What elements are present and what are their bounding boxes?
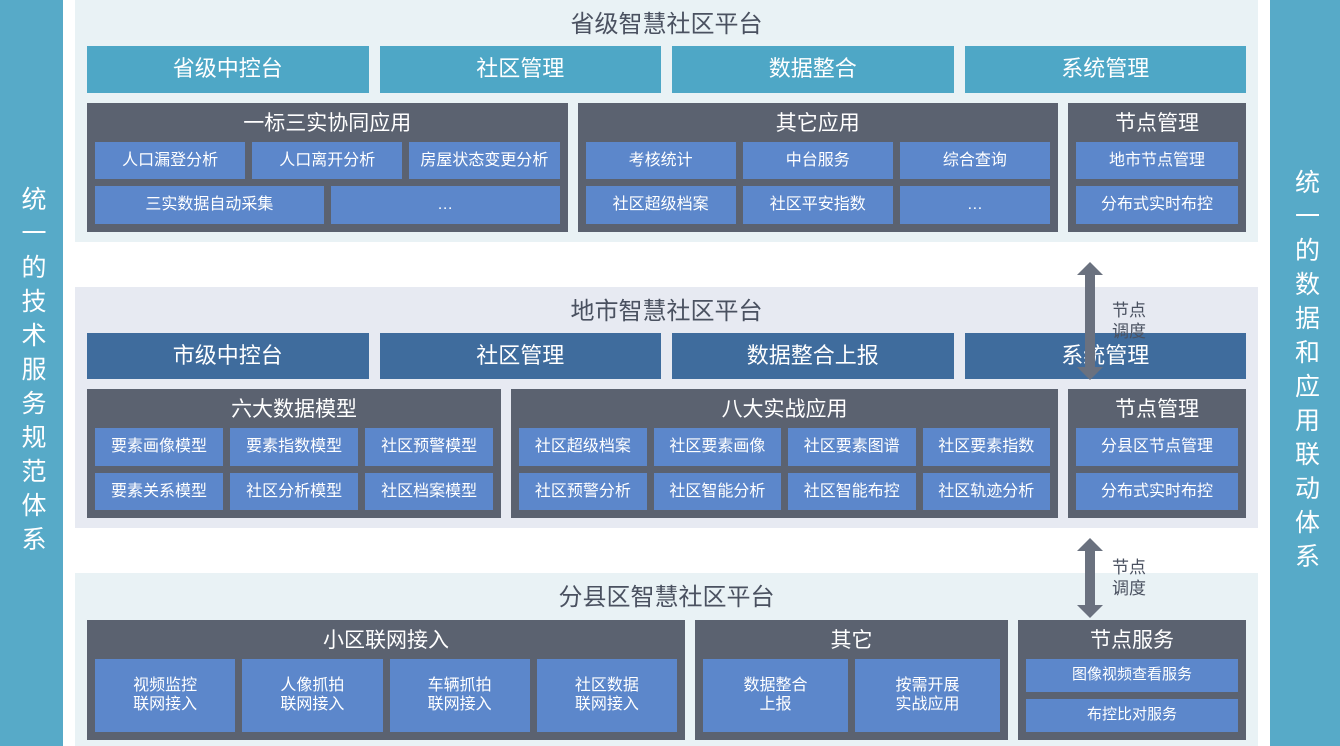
card-sanshi-auto-collect[interactable]: 三实数据自动采集 (95, 186, 324, 224)
arrow-shaft (1085, 275, 1095, 367)
group-cards: 人口漏登分析 人口离开分析 房屋状态变更分析 三实数据自动采集 … (95, 142, 560, 224)
municipal-title: 地市智慧社区平台 (87, 293, 1246, 333)
tab-provincial-system[interactable]: 系统管理 (965, 46, 1247, 92)
tab-municipal-control[interactable]: 市级中控台 (87, 333, 369, 379)
card-element-index-model[interactable]: 要素指数模型 (230, 428, 358, 466)
provincial-groups: 一标三实协同应用 人口漏登分析 人口离开分析 房屋状态变更分析 三实数据自动采集… (87, 103, 1246, 232)
card-midplatform-service[interactable]: 中台服务 (743, 142, 893, 180)
card-element-relation-model[interactable]: 要素关系模型 (95, 473, 223, 511)
group-cards: 视频监控 联网接入 人像抓拍 联网接入 车辆抓拍 联网接入 社区数据 联网接入 (95, 659, 677, 732)
card-integrated-query[interactable]: 综合查询 (900, 142, 1050, 180)
group-title: 节点管理 (1076, 395, 1238, 428)
group-cards: 分县区节点管理 分布式实时布控 (1076, 428, 1238, 510)
card-community-data-access[interactable]: 社区数据 联网接入 (537, 659, 677, 732)
provincial-tabs: 省级中控台 社区管理 数据整合 系统管理 (87, 46, 1246, 92)
group-yibiaosansi: 一标三实协同应用 人口漏登分析 人口离开分析 房屋状态变更分析 三实数据自动采集… (87, 103, 568, 232)
card-row: 图像视频查看服务 (1026, 659, 1238, 692)
district-groups: 小区联网接入 视频监控 联网接入 人像抓拍 联网接入 车辆抓拍 联网接入 社区数… (87, 620, 1246, 740)
card-population-leave[interactable]: 人口离开分析 (252, 142, 402, 180)
card-row: 要素画像模型 要素指数模型 社区预警模型 (95, 428, 493, 466)
group-community-network-access: 小区联网接入 视频监控 联网接入 人像抓拍 联网接入 车辆抓拍 联网接入 社区数… (87, 620, 685, 740)
group-title: 六大数据模型 (95, 395, 493, 428)
group-title: 其它应用 (586, 109, 1051, 142)
group-title: 一标三实协同应用 (95, 109, 560, 142)
card-row: 社区预警分析 社区智能分析 社区智能布控 社区轨迹分析 (519, 473, 1050, 511)
card-row: 分布式实时布控 (1076, 186, 1238, 224)
card-row: 三实数据自动采集 … (95, 186, 560, 224)
arrow-head-down-icon (1077, 605, 1103, 618)
card-community-element-graph[interactable]: 社区要素图谱 (788, 428, 915, 466)
arrow-head-up-icon (1077, 262, 1103, 275)
tab-provincial-control[interactable]: 省级中控台 (87, 46, 369, 92)
double-arrow-icon (1077, 538, 1103, 618)
group-other-district: 其它 数据整合 上报 按需开展 实战应用 (695, 620, 1008, 740)
group-cards: 数据整合 上报 按需开展 实战应用 (703, 659, 1000, 732)
arrow-node-dispatch-upper: 节点 调度 (1077, 262, 1146, 380)
card-row: 社区超级档案 社区平安指数 … (586, 186, 1051, 224)
card-community-super-archive[interactable]: 社区超级档案 (519, 428, 646, 466)
card-data-integration-report[interactable]: 数据整合 上报 (703, 659, 848, 732)
card-control-comparison-service[interactable]: 布控比对服务 (1026, 699, 1238, 732)
card-row: 社区超级档案 社区要素画像 社区要素图谱 社区要素指数 (519, 428, 1050, 466)
municipal-tabs: 市级中控台 社区管理 数据整合上报 系统管理 (87, 333, 1246, 379)
card-image-video-view-service[interactable]: 图像视频查看服务 (1026, 659, 1238, 692)
provincial-title: 省级智慧社区平台 (87, 6, 1246, 46)
card-community-element-index[interactable]: 社区要素指数 (923, 428, 1050, 466)
tab-provincial-data[interactable]: 数据整合 (672, 46, 954, 92)
group-other-apps: 其它应用 考核统计 中台服务 综合查询 社区超级档案 社区平安指数 … (578, 103, 1059, 232)
card-community-archive-model[interactable]: 社区档案模型 (365, 473, 493, 511)
card-district-node-management[interactable]: 分县区节点管理 (1076, 428, 1238, 466)
card-row: 要素关系模型 社区分析模型 社区档案模型 (95, 473, 493, 511)
group-title: 小区联网接入 (95, 626, 677, 659)
card-row: 视频监控 联网接入 人像抓拍 联网接入 车辆抓拍 联网接入 社区数据 联网接入 (95, 659, 677, 732)
arrow-head-up-icon (1077, 538, 1103, 551)
group-eight-practical-apps: 八大实战应用 社区超级档案 社区要素画像 社区要素图谱 社区要素指数 社区预警分… (511, 389, 1058, 518)
card-community-smart-analysis[interactable]: 社区智能分析 (654, 473, 781, 511)
group-node-service: 节点服务 图像视频查看服务 布控比对服务 (1018, 620, 1246, 740)
section-provincial: 省级智慧社区平台 省级中控台 社区管理 数据整合 系统管理 一标三实协同应用 人… (75, 0, 1258, 242)
card-community-warning-analysis[interactable]: 社区预警分析 (519, 473, 646, 511)
arrow-label-upper: 节点 调度 (1112, 300, 1146, 343)
group-title: 节点服务 (1026, 626, 1238, 659)
district-title: 分县区智慧社区平台 (87, 579, 1246, 619)
card-row: 分布式实时布控 (1076, 473, 1238, 511)
arrow-shaft (1085, 551, 1095, 605)
tab-municipal-data-report[interactable]: 数据整合上报 (672, 333, 954, 379)
card-community-safety-index[interactable]: 社区平安指数 (743, 186, 893, 224)
card-row: 布控比对服务 (1026, 699, 1238, 732)
card-on-demand-practical-app[interactable]: 按需开展 实战应用 (855, 659, 1000, 732)
left-sidebar-label: 统一的技术服务规范体系 (19, 186, 44, 560)
card-row: 地市节点管理 (1076, 142, 1238, 180)
card-community-warning-model[interactable]: 社区预警模型 (365, 428, 493, 466)
card-more-ellipsis[interactable]: … (331, 186, 560, 224)
left-sidebar: 统一的技术服务规范体系 (0, 0, 63, 746)
card-face-capture-access[interactable]: 人像抓拍 联网接入 (242, 659, 382, 732)
diagram-center-column: 省级智慧社区平台 省级中控台 社区管理 数据整合 系统管理 一标三实协同应用 人… (63, 0, 1270, 746)
right-sidebar-label: 统一的数据和应用联动体系 (1293, 169, 1318, 577)
card-video-surveillance-access[interactable]: 视频监控 联网接入 (95, 659, 235, 732)
card-row: 数据整合 上报 按需开展 实战应用 (703, 659, 1000, 732)
card-row: 分县区节点管理 (1076, 428, 1238, 466)
group-cards: 地市节点管理 分布式实时布控 (1076, 142, 1238, 224)
double-arrow-icon (1077, 262, 1103, 380)
group-node-management-provincial: 节点管理 地市节点管理 分布式实时布控 (1068, 103, 1246, 232)
group-cards: 考核统计 中台服务 综合查询 社区超级档案 社区平安指数 … (586, 142, 1051, 224)
group-cards: 图像视频查看服务 布控比对服务 (1026, 659, 1238, 732)
tab-municipal-community[interactable]: 社区管理 (380, 333, 662, 379)
card-community-element-portrait[interactable]: 社区要素画像 (654, 428, 781, 466)
card-more-ellipsis[interactable]: … (900, 186, 1050, 224)
card-distributed-realtime-control[interactable]: 分布式实时布控 (1076, 186, 1238, 224)
group-six-data-models: 六大数据模型 要素画像模型 要素指数模型 社区预警模型 要素关系模型 社区分析模… (87, 389, 501, 518)
card-row: 人口漏登分析 人口离开分析 房屋状态变更分析 (95, 142, 560, 180)
arrow-head-down-icon (1077, 367, 1103, 380)
municipal-groups: 六大数据模型 要素画像模型 要素指数模型 社区预警模型 要素关系模型 社区分析模… (87, 389, 1246, 518)
card-distributed-realtime-control[interactable]: 分布式实时布控 (1076, 473, 1238, 511)
group-title: 其它 (703, 626, 1000, 659)
group-cards: 社区超级档案 社区要素画像 社区要素图谱 社区要素指数 社区预警分析 社区智能分… (519, 428, 1050, 510)
group-cards: 要素画像模型 要素指数模型 社区预警模型 要素关系模型 社区分析模型 社区档案模… (95, 428, 493, 510)
card-community-trajectory-analysis[interactable]: 社区轨迹分析 (923, 473, 1050, 511)
group-title: 节点管理 (1076, 109, 1238, 142)
card-population-missing[interactable]: 人口漏登分析 (95, 142, 245, 180)
provincial-panel: 省级智慧社区平台 省级中控台 社区管理 数据整合 系统管理 一标三实协同应用 人… (75, 0, 1258, 242)
architecture-diagram: 统一的技术服务规范体系 省级智慧社区平台 省级中控台 社区管理 数据整合 系统管… (0, 0, 1340, 746)
card-row: 考核统计 中台服务 综合查询 (586, 142, 1051, 180)
card-community-super-archive[interactable]: 社区超级档案 (586, 186, 736, 224)
arrow-label-lower: 节点 调度 (1112, 557, 1146, 600)
card-community-smart-control[interactable]: 社区智能布控 (788, 473, 915, 511)
card-city-node-management[interactable]: 地市节点管理 (1076, 142, 1238, 180)
card-element-portrait-model[interactable]: 要素画像模型 (95, 428, 223, 466)
arrow-node-dispatch-lower: 节点 调度 (1077, 538, 1146, 618)
right-sidebar: 统一的数据和应用联动体系 (1270, 0, 1340, 746)
card-community-analysis-model[interactable]: 社区分析模型 (230, 473, 358, 511)
group-title: 八大实战应用 (519, 395, 1050, 428)
card-vehicle-capture-access[interactable]: 车辆抓拍 联网接入 (390, 659, 530, 732)
tab-provincial-community[interactable]: 社区管理 (380, 46, 662, 92)
card-assessment-stats[interactable]: 考核统计 (586, 142, 736, 180)
card-house-status-change[interactable]: 房屋状态变更分析 (409, 142, 559, 180)
group-node-management-municipal: 节点管理 分县区节点管理 分布式实时布控 (1068, 389, 1246, 518)
